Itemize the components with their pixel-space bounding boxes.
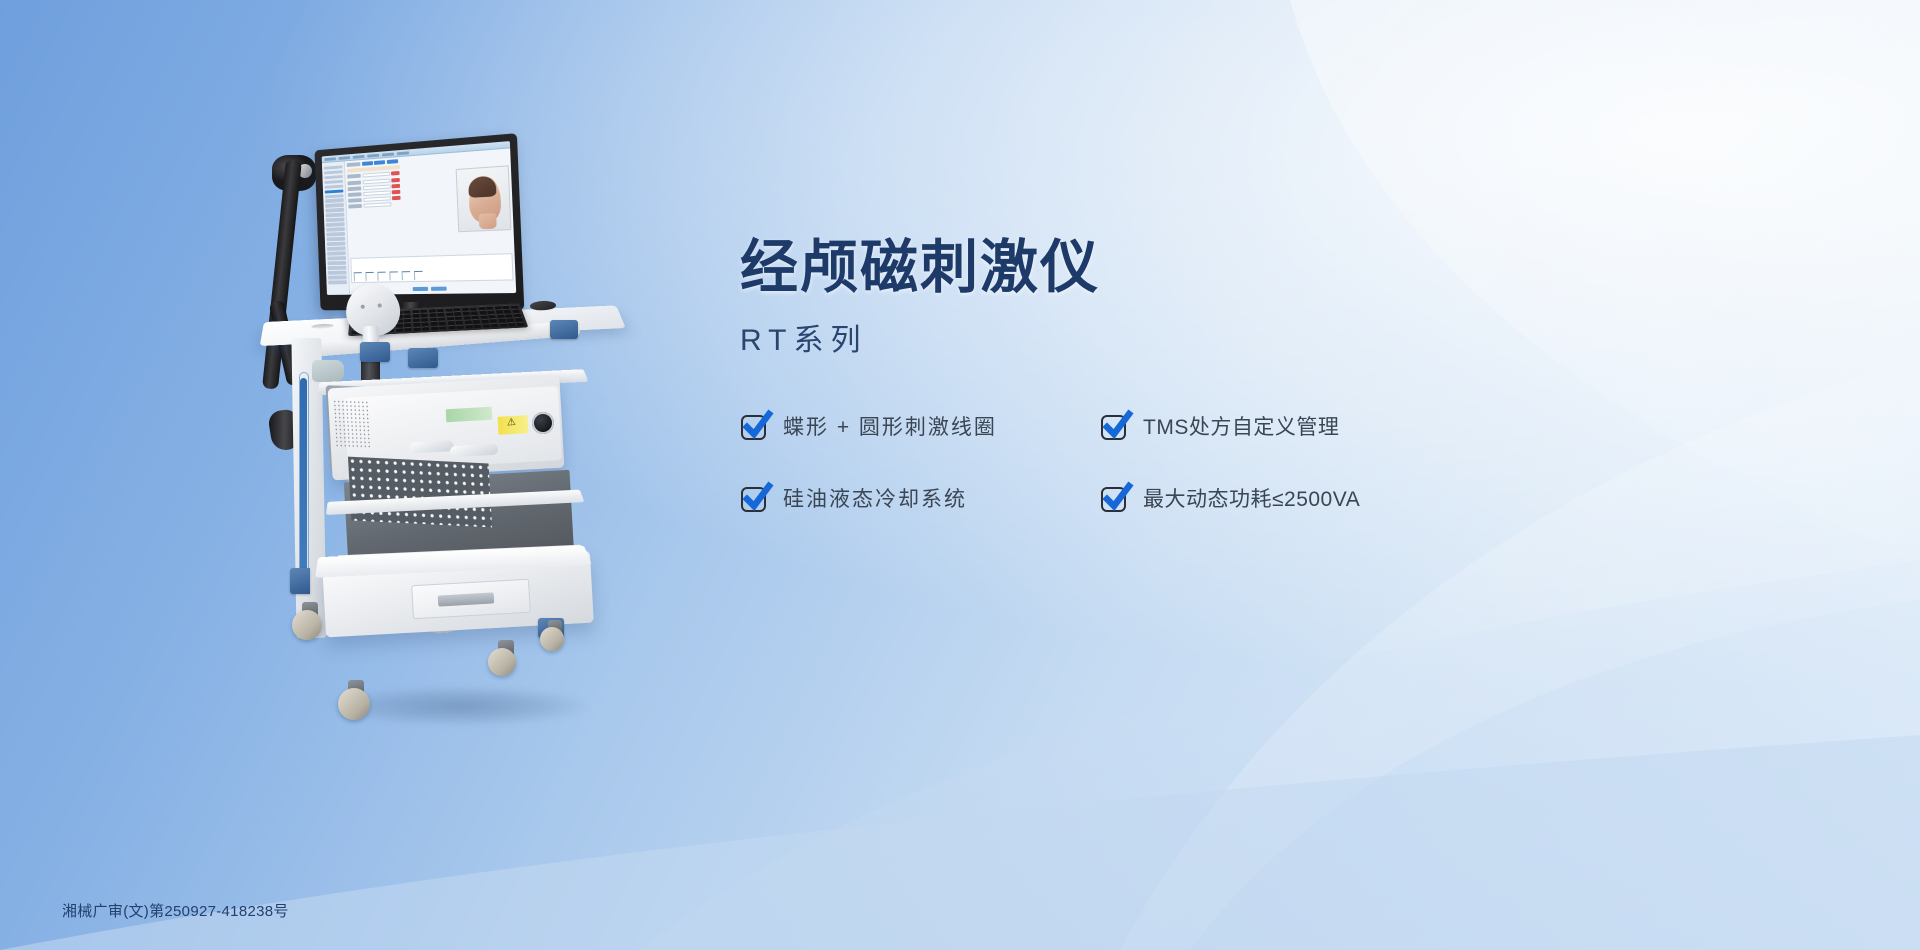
feature-label: 硅油液态冷却系统 (783, 483, 967, 513)
registration-mark: 湘械广审(文)第250927-418238号 (62, 900, 289, 921)
page-title: 经颅磁刺激仪 (740, 236, 1520, 301)
unit-ventilation-grid (333, 399, 372, 448)
checkbox-checked-icon (740, 412, 768, 440)
post-accent-stripe (300, 378, 307, 578)
perforated-back-panel (348, 457, 492, 528)
product-image (250, 120, 670, 740)
product-banner: 经颅磁刺激仪 RT系列 蝶形 + 圆形刺激线圈 TMS处方自定义管理 (0, 0, 1920, 950)
feature-label: 最大动态功耗≤2500VA (1143, 483, 1360, 513)
checkbox-checked-icon (740, 484, 768, 512)
shelf-clamp-left (360, 342, 390, 362)
feature-item-power: 最大动态功耗≤2500VA (1100, 483, 1450, 513)
shelf-clamp-mid (408, 348, 438, 368)
checkbox-checked-icon (1100, 484, 1128, 512)
feature-item-prescription: TMS处方自定义管理 (1100, 411, 1450, 441)
feature-label: 蝶形 + 圆形刺激线圈 (783, 411, 997, 441)
feature-item-cooling: 硅油液态冷却系统 (740, 483, 1090, 513)
feature-item-coil: 蝶形 + 圆形刺激线圈 (740, 411, 1090, 441)
feature-list: 蝶形 + 圆形刺激线圈 TMS处方自定义管理 硅油液态冷却系统 (740, 411, 1520, 513)
base-clamp-left (290, 568, 310, 594)
banner-content: 经颅磁刺激仪 RT系列 蝶形 + 圆形刺激线圈 TMS处方自定义管理 (740, 236, 1520, 513)
page-subtitle: RT系列 (740, 315, 1520, 359)
unit-green-label (446, 407, 493, 423)
coil-holder-cradle (312, 360, 344, 382)
shelf-clamp-right (550, 320, 578, 339)
feature-label: TMS处方自定义管理 (1143, 411, 1339, 441)
checkbox-checked-icon (1100, 412, 1128, 440)
unit-warning-label (498, 415, 529, 435)
